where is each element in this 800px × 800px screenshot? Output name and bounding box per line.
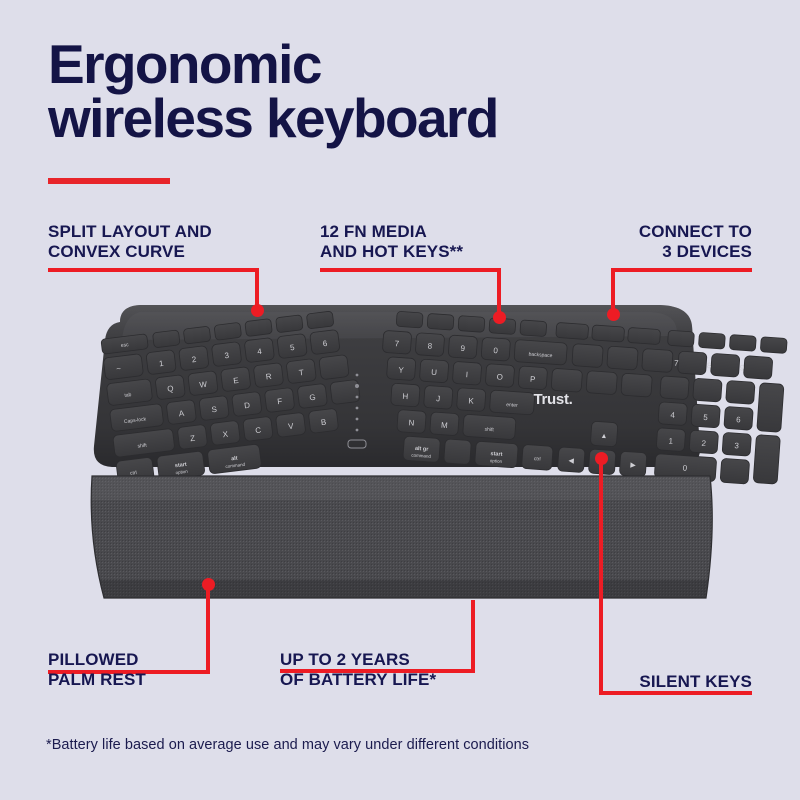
svg-text:start: start	[490, 451, 502, 458]
svg-text:G: G	[309, 393, 316, 403]
callout-split-layout-line-1: SPLIT LAYOUT AND	[48, 222, 212, 242]
svg-text:option: option	[490, 458, 503, 464]
title-underline-rule	[48, 178, 170, 184]
leader-line-connect-devices-horizontal	[611, 268, 752, 272]
callout-fn-media-keys-line-1: 12 FN MEDIA	[320, 222, 463, 242]
svg-text:B: B	[320, 418, 326, 428]
page-title: Ergonomic wireless keyboard	[48, 38, 748, 146]
callout-dot-connect-devices	[607, 308, 620, 321]
svg-text:shift: shift	[137, 443, 147, 450]
palm-rest	[80, 470, 730, 610]
leader-line-silent-keys-vertical	[599, 462, 603, 694]
svg-text:N: N	[408, 418, 415, 427]
svg-text:shift: shift	[484, 427, 494, 434]
headline-line-2: wireless keyboard	[48, 92, 748, 146]
svg-text:alt: alt	[231, 456, 238, 463]
footnote-battery-disclaimer: *Battery life based on average use and m…	[46, 737, 529, 753]
callout-battery-life-line-2: OF BATTERY LIFE*	[280, 670, 436, 690]
svg-text:W: W	[199, 380, 208, 390]
svg-text:▲: ▲	[600, 433, 607, 440]
svg-text:esc: esc	[121, 342, 130, 349]
svg-text:Q: Q	[167, 384, 174, 394]
callout-silent-keys-line-1: SILENT KEYS	[639, 672, 752, 692]
callout-battery-life-line-1: UP TO 2 YEARS	[280, 650, 436, 670]
callout-silent-keys: SILENT KEYS	[639, 672, 752, 692]
svg-text:P: P	[530, 375, 536, 384]
svg-text:S: S	[211, 405, 217, 415]
headline-line-1: Ergonomic	[48, 33, 321, 95]
leader-line-palm-rest-vertical	[206, 588, 210, 673]
svg-text:alt gr: alt gr	[415, 446, 430, 453]
svg-text:H: H	[402, 392, 409, 401]
leader-line-split-layout-horizontal	[48, 268, 259, 272]
product-feature-graphic: Ergonomic wireless keyboard	[0, 0, 800, 800]
callout-connect-devices-line-1: CONNECT TO	[639, 222, 752, 242]
leader-line-battery-life-vertical	[471, 600, 475, 672]
callout-palm-rest-line-2: PALM REST	[48, 670, 146, 690]
svg-text:M: M	[441, 421, 449, 430]
callout-dot-split-layout	[251, 304, 264, 317]
svg-text:enter: enter	[506, 402, 518, 409]
svg-text:J: J	[436, 394, 441, 403]
leader-line-fn-media-keys-horizontal	[320, 268, 501, 272]
svg-text:tab: tab	[124, 392, 132, 399]
keyboard-image: esc ~ 1 2 3 4 5 6 tab Q W E R T Caps-loc…	[0, 280, 800, 640]
svg-text:ctrl: ctrl	[534, 456, 541, 462]
svg-text:U: U	[431, 368, 438, 377]
callout-connect-devices: CONNECT TO 3 DEVICES	[639, 222, 752, 262]
callout-dot-fn-media-keys	[493, 311, 506, 324]
svg-text:E: E	[233, 376, 239, 386]
callout-palm-rest: PILLOWED PALM REST	[48, 650, 146, 690]
callout-connect-devices-line-2: 3 DEVICES	[639, 242, 752, 262]
callout-split-layout: SPLIT LAYOUT AND CONVEX CURVE	[48, 222, 212, 262]
callout-split-layout-line-2: CONVEX CURVE	[48, 242, 212, 262]
callout-palm-rest-line-1: PILLOWED	[48, 650, 146, 670]
callout-battery-life: UP TO 2 YEARS OF BATTERY LIFE*	[280, 650, 436, 690]
callout-fn-media-keys-line-2: AND HOT KEYS**	[320, 242, 463, 262]
callout-fn-media-keys: 12 FN MEDIA AND HOT KEYS**	[320, 222, 463, 262]
svg-text:O: O	[496, 372, 503, 381]
brand-logo: Trust.	[533, 391, 572, 408]
